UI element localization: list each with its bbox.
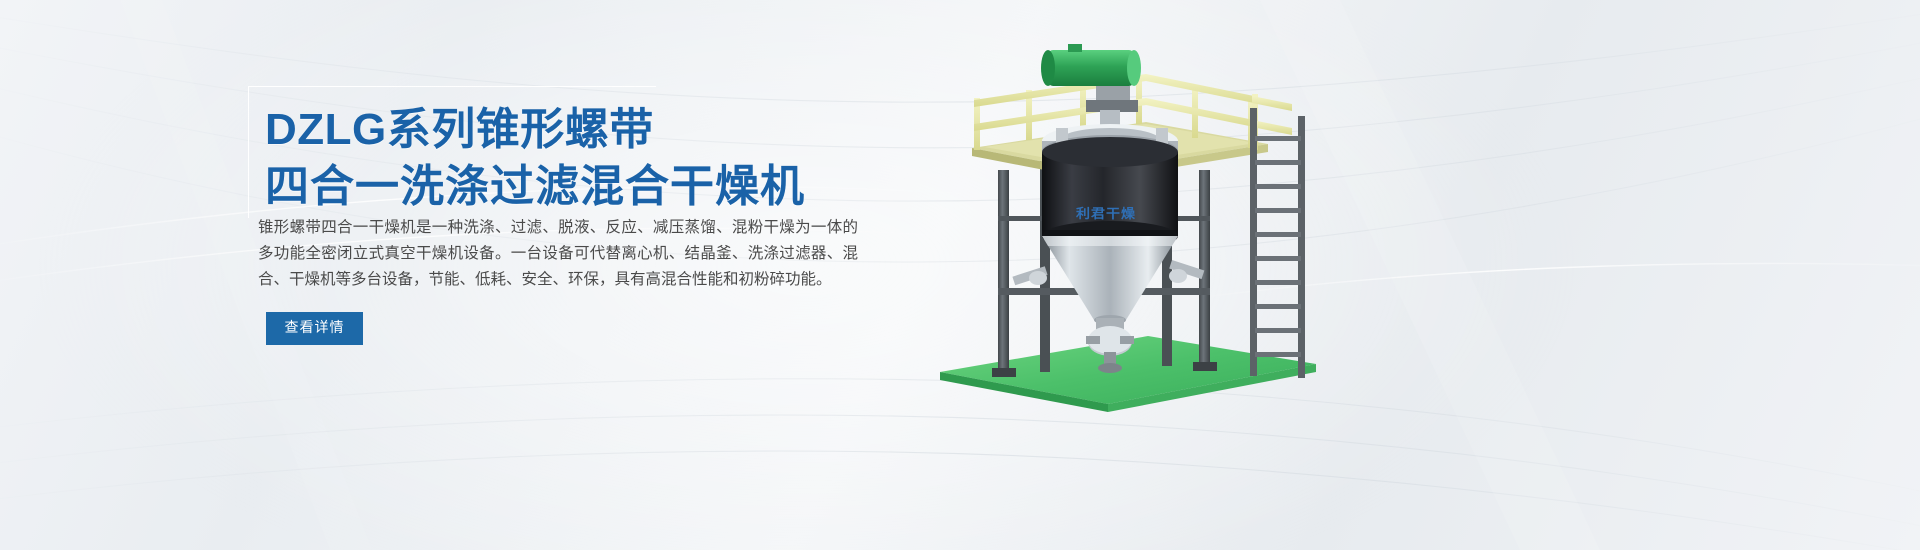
promo-banner: DZLG系列锥形螺带 四合一洗涤过滤混合干燥机 锥形螺带四合一干燥机是一种洗涤、… <box>0 0 1920 550</box>
banner-text-column: DZLG系列锥形螺带 四合一洗涤过滤混合干燥机 锥形螺带四合一干燥机是一种洗涤、… <box>248 86 888 386</box>
headline-line-1: DZLG系列锥形螺带 <box>265 101 805 158</box>
headline-line-2: 四合一洗涤过滤混合干燥机 <box>265 158 805 215</box>
product-description: 锥形螺带四合一干燥机是一种洗涤、过滤、脱液、反应、减压蒸馏、混粉干燥为一体的多功… <box>258 214 858 292</box>
view-details-button[interactable]: 查看详情 <box>266 312 363 345</box>
conical-section <box>1042 236 1178 325</box>
vessel-body <box>1042 137 1178 251</box>
page-title: DZLG系列锥形螺带 四合一洗涤过滤混合干燥机 <box>265 101 805 215</box>
product-illustration: 利君干燥 <box>900 20 1460 440</box>
